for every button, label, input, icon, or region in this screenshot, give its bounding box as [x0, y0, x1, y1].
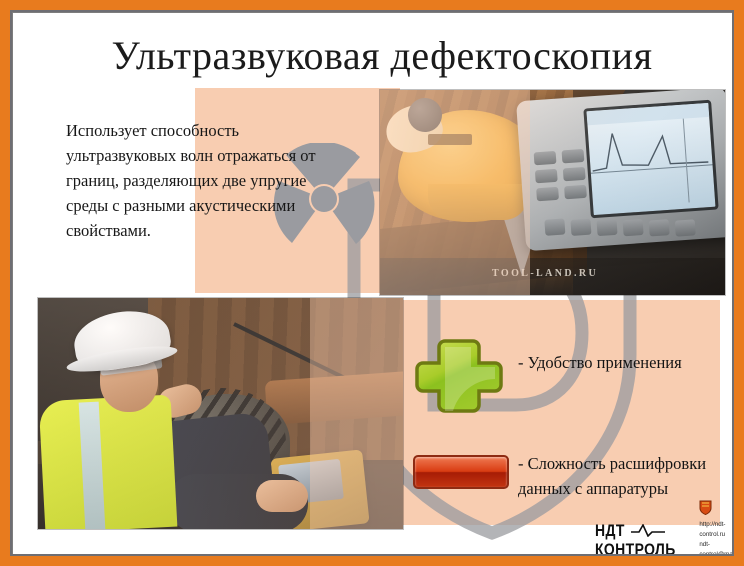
- page-title: Ультразвуковая дефектоскопия: [10, 36, 734, 76]
- slide-frame: TOOL-LAND.RU: [0, 0, 744, 566]
- hi-vis-vest: [39, 395, 178, 529]
- logo-name-line1: НДТ: [595, 522, 625, 539]
- detector-screen: [583, 100, 718, 219]
- waveform-icon: [631, 524, 665, 537]
- slide-canvas: TOOL-LAND.RU: [10, 10, 734, 556]
- peach-overlay-top-right: [380, 90, 530, 295]
- bullet-advantage: - Удобство применения: [518, 351, 733, 376]
- bullet-disadvantage: - Сложность расшифровки данных с аппарат…: [518, 452, 713, 502]
- peach-overlay-bottom-left: [310, 298, 403, 529]
- logo-website[interactable]: http://ndt-control.ru: [699, 520, 734, 540]
- minus-icon: [413, 455, 509, 489]
- logo-wordmark: НДТ КОНТРОЛЬ: [595, 522, 693, 556]
- company-logo[interactable]: НДТ КОНТРОЛЬ http://ndt-control.ru ndt-c…: [595, 516, 734, 556]
- logo-contacts: http://ndt-control.ru ndt-control@mail.r…: [699, 520, 734, 556]
- logo-email[interactable]: ndt-control@mail.ru: [699, 540, 734, 556]
- heraldic-shield-icon: [699, 500, 712, 515]
- logo-contact-block: http://ndt-control.ru ndt-control@mail.r…: [699, 500, 734, 556]
- description-text: Использует способность ультразвуковых во…: [66, 118, 316, 243]
- logo-name-line2: КОНТРОЛЬ: [595, 541, 676, 557]
- plus-icon: [413, 337, 505, 415]
